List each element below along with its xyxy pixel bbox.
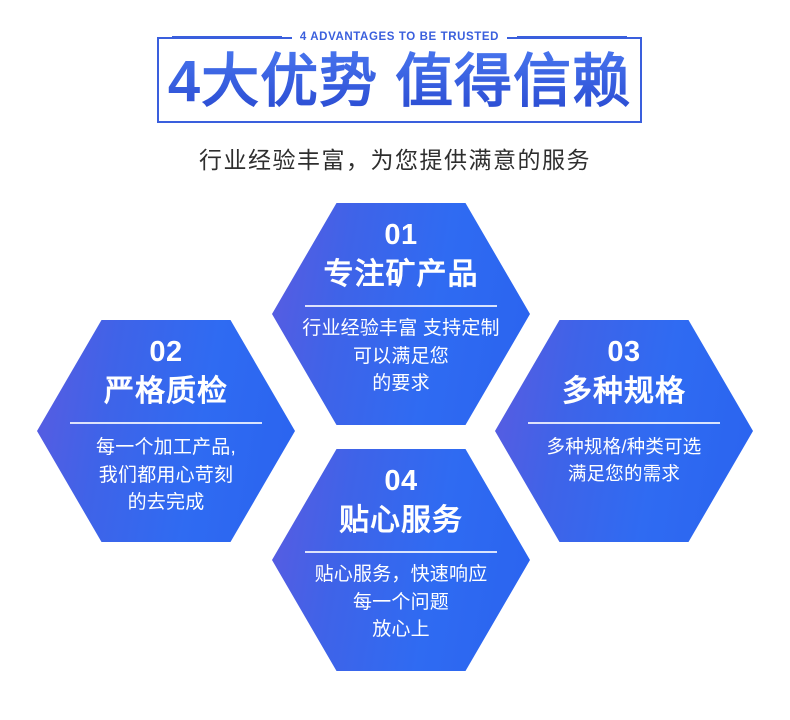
advantage-number: 04 (272, 467, 530, 496)
advantage-number: 02 (37, 338, 295, 367)
advantage-card-03: 03 多种规格 多种规格/种类可选 满足您的需求 (495, 320, 753, 542)
advantages-hex-grid: 01 专注矿产品 行业经验丰富 支持定制 可以满足您 的要求 02 严格质检 每… (0, 0, 790, 720)
advantage-body-line: 的去完成 (37, 489, 295, 517)
advantage-body: 行业经验丰富 支持定制 可以满足您 的要求 (272, 315, 530, 398)
advantage-title: 贴心服务 (272, 505, 530, 537)
advantage-divider (528, 422, 720, 424)
advantage-title: 多种规格 (495, 376, 753, 408)
advantage-body-line: 贴心服务，快速响应 (272, 561, 530, 589)
advantage-number: 03 (495, 338, 753, 367)
advantage-body-line: 的要求 (272, 370, 530, 398)
advantage-divider (305, 305, 497, 307)
advantage-card-04: 04 贴心服务 贴心服务，快速响应 每一个问题 放心上 (272, 449, 530, 671)
advantage-body: 每一个加工产品, 我们都用心苛刻 的去完成 (37, 434, 295, 517)
advantage-divider (70, 422, 262, 424)
advantage-card-02: 02 严格质检 每一个加工产品, 我们都用心苛刻 的去完成 (37, 320, 295, 542)
advantage-title: 专注矿产品 (272, 259, 530, 291)
advantage-card-01: 01 专注矿产品 行业经验丰富 支持定制 可以满足您 的要求 (272, 203, 530, 425)
advantage-body-line: 每一个加工产品, (37, 434, 295, 462)
advantage-body-line: 满足您的需求 (495, 461, 753, 488)
advantage-body: 贴心服务，快速响应 每一个问题 放心上 (272, 561, 530, 644)
advantage-body-line: 可以满足您 (272, 343, 530, 371)
advantage-body-line: 多种规格/种类可选 (495, 434, 753, 461)
advantage-body: 多种规格/种类可选 满足您的需求 (495, 434, 753, 488)
advantage-body-line: 行业经验丰富 支持定制 (272, 315, 530, 343)
advantage-body-line: 放心上 (272, 616, 530, 644)
advantage-divider (305, 551, 497, 553)
advantage-title: 严格质检 (37, 376, 295, 408)
advantage-body-line: 我们都用心苛刻 (37, 462, 295, 490)
advantage-body-line: 每一个问题 (272, 589, 530, 617)
advantage-number: 01 (272, 221, 530, 250)
